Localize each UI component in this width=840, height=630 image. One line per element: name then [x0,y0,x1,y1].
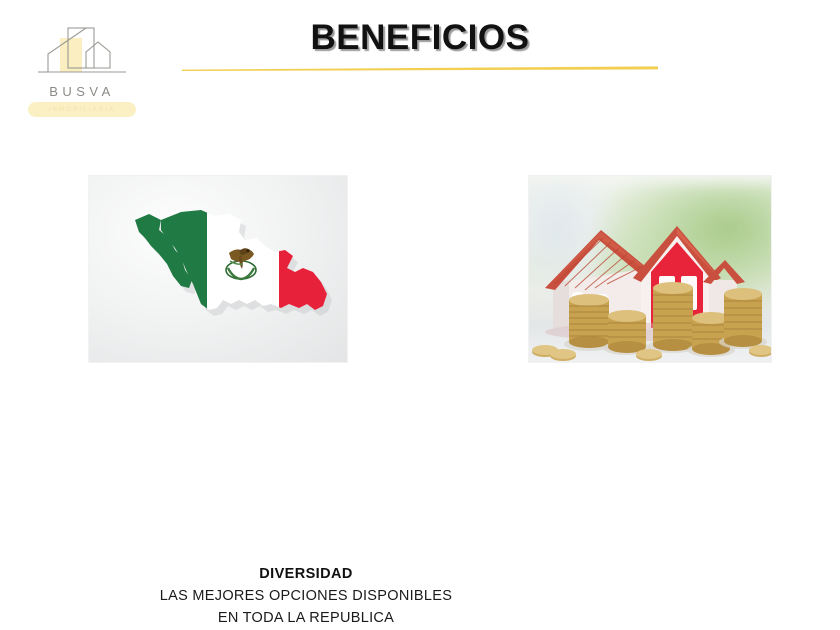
mexico-map-flag-image [88,175,348,363]
benefit-panel-diversidad: DIVERSIDAD LAS MEJORES OPCIONES DISPONIB… [88,175,348,363]
logo-wordmark: BUSVA [22,84,142,99]
mexico-map-shape [89,176,348,363]
title-underline-rule [182,66,658,71]
benefit-body-line-1: LAS MEJORES OPCIONES DISPONIBLES [106,585,506,607]
benefit-panel-accesibilidad: ACCESIBILIDAD INVERSIONES DE ACUERDO A S… [528,175,772,363]
coin-stack-1 [564,294,614,351]
house-and-coins-image [528,175,772,363]
benefit-body-line-2: EN TODA LA REPUBLICA [106,607,506,629]
benefit-heading: DIVERSIDAD [106,563,506,585]
coin-stack-5 [719,288,767,349]
benefit-caption-diversidad: DIVERSIDAD LAS MEJORES OPCIONES DISPONIB… [106,563,506,629]
house-and-coins-shapes [529,176,772,363]
coin-stack-2 [603,310,651,355]
slide-title: BENEFICIOS [0,18,840,58]
logo-tagline: INMOBILIARIA [49,107,116,113]
coin-stack-3 [648,282,698,353]
logo-tagline-pill: INMOBILIARIA [28,102,136,117]
